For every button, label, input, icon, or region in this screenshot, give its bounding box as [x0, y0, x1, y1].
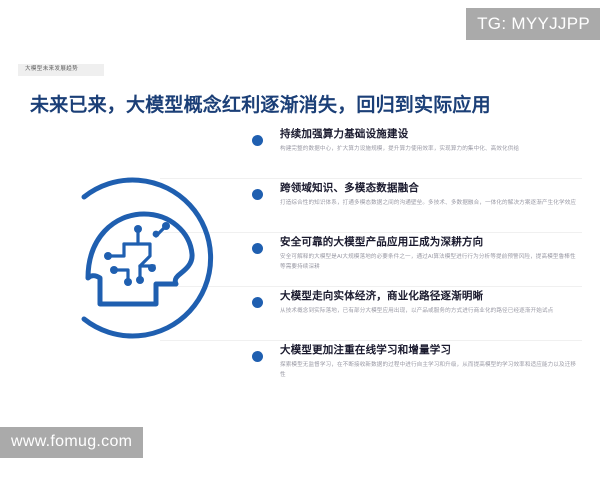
- bullet-dot-icon: [252, 243, 263, 254]
- section-kicker-label: 大模型未来发展趋势: [18, 64, 104, 76]
- bullet-dot-icon: [252, 351, 263, 362]
- list-item-title: 大模型走向实体经济，商业化路径逐渐明晰: [280, 290, 584, 303]
- list-item-body: 构建完整的数据中心，扩大算力设施规模，提升算力使用效率，实现算力的集中化、高效化…: [280, 145, 580, 155]
- watermark-telegram: TG: MYYJJPP: [466, 8, 600, 40]
- list-item-body: 探索模型无监督学习，在不断接收新数据的过程中进行自主学习和升级，从而提高模型的学…: [280, 361, 580, 381]
- slide-canvas: 大模型未来发展趋势 未来已来，大模型概念红利逐渐消失，回归到实际应用: [0, 0, 600, 480]
- list-item: 大模型走向实体经济，商业化路径逐渐明晰 从技术概念到实际落地，已有部分大模型应用…: [248, 290, 584, 344]
- watermark-site-url: www.fomug.com: [0, 427, 143, 458]
- page-title: 未来已来，大模型概念红利逐渐消失，回归到实际应用: [30, 94, 491, 119]
- list-item-title: 大模型更加注重在线学习和增量学习: [280, 344, 584, 357]
- list-item-body: 打造综合性的知识体系，打通多模态数据之间的沟通壁垒。多技术、多数据融合，一体化的…: [280, 199, 580, 209]
- list-item: 大模型更加注重在线学习和增量学习 探索模型无监督学习，在不断接收新数据的过程中进…: [248, 344, 584, 398]
- ai-head-circuit-illustration: [44, 152, 254, 367]
- list-item-title: 跨领域知识、多模态数据融合: [280, 182, 584, 195]
- trend-list: 持续加强算力基础设施建设 构建完整的数据中心，扩大算力设施规模，提升算力使用效率…: [248, 128, 584, 398]
- bullet-dot-icon: [252, 297, 263, 308]
- list-item-body: 从技术概念到实际落地，已有部分大模型应用出现，以产品或服务的方式进行商业化的路径…: [280, 307, 580, 317]
- list-item-title: 安全可靠的大模型产品应用正成为深耕方向: [280, 236, 584, 249]
- bullet-dot-icon: [252, 135, 263, 146]
- list-item: 持续加强算力基础设施建设 构建完整的数据中心，扩大算力设施规模，提升算力使用效率…: [248, 128, 584, 182]
- list-item: 安全可靠的大模型产品应用正成为深耕方向 安全可解释的大模型是AI大规模落地的必要…: [248, 236, 584, 290]
- bullet-dot-icon: [252, 189, 263, 200]
- list-item-title: 持续加强算力基础设施建设: [280, 128, 584, 141]
- list-item-body: 安全可解释的大模型是AI大规模落地的必要条件之一，通过AI算法模型进行行为分析等…: [280, 253, 580, 273]
- list-item: 跨领域知识、多模态数据融合 打造综合性的知识体系，打通多模态数据之间的沟通壁垒。…: [248, 182, 584, 236]
